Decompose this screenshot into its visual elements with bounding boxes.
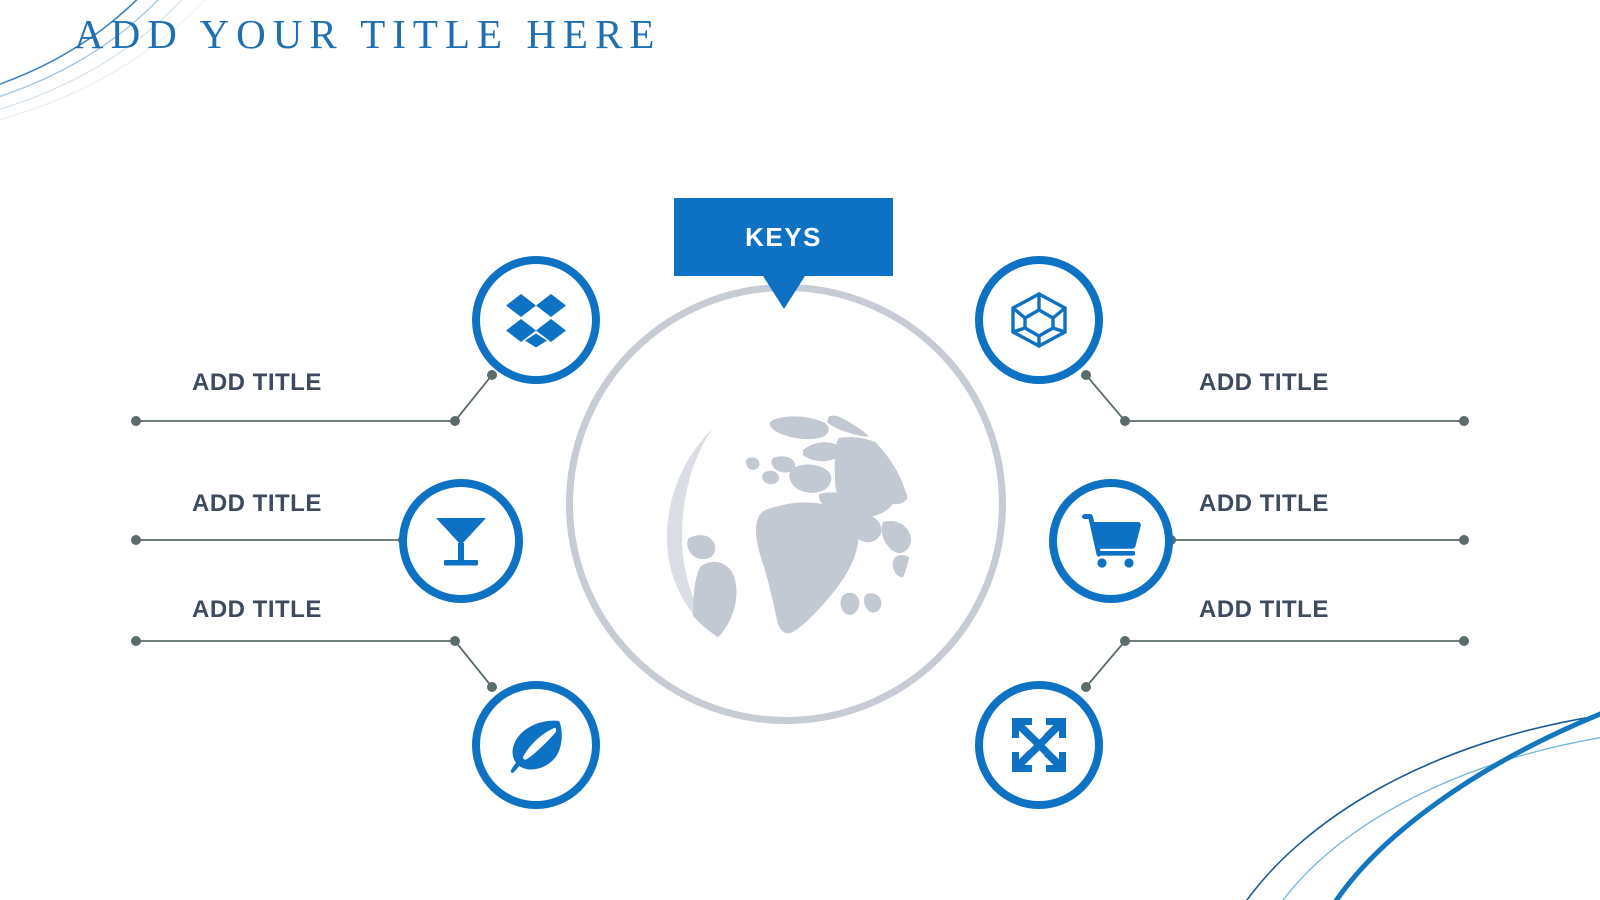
node-label-right-middle: ADD TITLE [1199,490,1329,518]
node-icon-expand-arrows[interactable] [975,681,1103,809]
node-label-right-bottom: ADD TITLE [1199,596,1329,624]
node-label-left-middle: ADD TITLE [192,490,322,518]
node-label-left-bottom: ADD TITLE [192,596,322,624]
node-icon-leaf[interactable] [472,681,600,809]
wireframe-cube-icon [1009,290,1069,350]
node-icon-shopping-cart[interactable] [1049,479,1173,603]
node-label-right-top: ADD TITLE [1199,369,1329,397]
cocktail-glass-icon [434,512,488,570]
node-icon-wireframe-cube[interactable] [975,256,1103,384]
node-label-left-top: ADD TITLE [192,369,322,397]
expand-arrows-icon [1010,716,1068,774]
keys-banner: KEYS [674,198,893,276]
globe-icon [653,398,919,664]
node-icon-dropbox[interactable] [472,256,600,384]
slide-canvas: ADD YOUR TITLE HERE [0,0,1600,900]
page-title: ADD YOUR TITLE HERE [74,10,661,58]
leaf-icon [505,717,567,773]
dropbox-icon [505,292,567,348]
node-icon-cocktail-glass[interactable] [399,479,523,603]
keys-banner-pointer [763,276,805,309]
decorative-curves-bottom-right [1180,670,1600,900]
shopping-cart-icon [1080,514,1142,568]
